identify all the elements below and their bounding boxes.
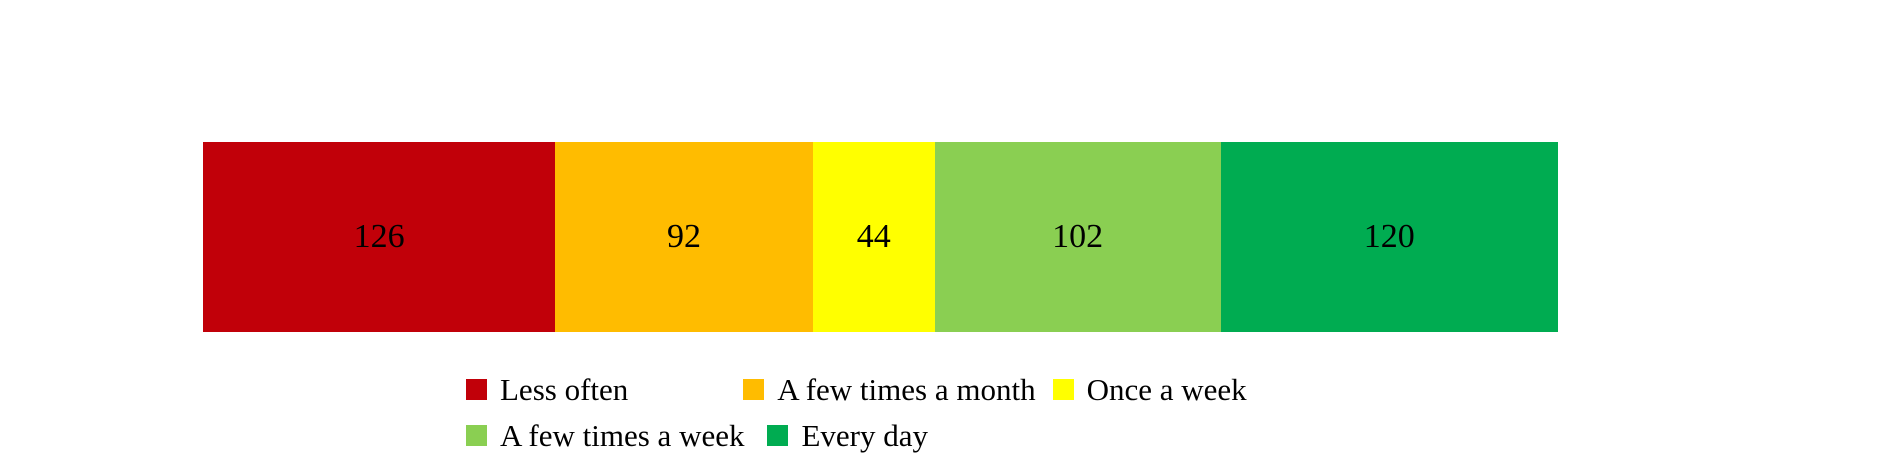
bar-segment-value: 120 bbox=[1364, 220, 1415, 254]
stacked-bar-chart: 1269244102120 bbox=[203, 142, 1558, 332]
bar-segment-value: 92 bbox=[667, 220, 701, 254]
legend-item-a-few-times-a-week[interactable]: A few times a week bbox=[466, 420, 744, 451]
bar-segment-4[interactable]: 120 bbox=[1221, 142, 1558, 332]
bar-segment-1[interactable]: 92 bbox=[555, 142, 812, 332]
legend-swatch-icon bbox=[767, 425, 788, 446]
bar-segment-value: 126 bbox=[354, 220, 405, 254]
legend-swatch-icon bbox=[1053, 379, 1074, 400]
legend-swatch-icon bbox=[466, 425, 487, 446]
legend-swatch-icon bbox=[466, 379, 487, 400]
legend-swatch-icon bbox=[743, 379, 764, 400]
legend-item-once-a-week[interactable]: Once a week bbox=[1053, 374, 1247, 405]
legend-label: A few times a week bbox=[500, 420, 744, 451]
legend-label: Every day bbox=[801, 420, 928, 451]
legend-row-0: Less oftenA few times a monthOnce a week bbox=[466, 366, 1466, 412]
bar-segment-3[interactable]: 102 bbox=[935, 142, 1221, 332]
bar-segment-value: 102 bbox=[1052, 220, 1103, 254]
legend-row-1: A few times a weekEvery day bbox=[466, 412, 1466, 458]
chart-container: 1269244102120 Less oftenA few times a mo… bbox=[0, 0, 1883, 472]
legend-item-a-few-times-a-month[interactable]: A few times a month bbox=[743, 374, 1035, 405]
legend-label: Less often bbox=[500, 374, 628, 405]
bar-segment-value: 44 bbox=[857, 220, 891, 254]
legend-item-less-often[interactable]: Less often bbox=[466, 374, 628, 405]
chart-legend: Less oftenA few times a monthOnce a week… bbox=[466, 366, 1466, 458]
bar-segment-0[interactable]: 126 bbox=[203, 142, 555, 332]
bar-segment-2[interactable]: 44 bbox=[813, 142, 935, 332]
legend-label: Once a week bbox=[1087, 374, 1247, 405]
legend-item-every-day[interactable]: Every day bbox=[767, 420, 928, 451]
legend-label: A few times a month bbox=[777, 374, 1035, 405]
